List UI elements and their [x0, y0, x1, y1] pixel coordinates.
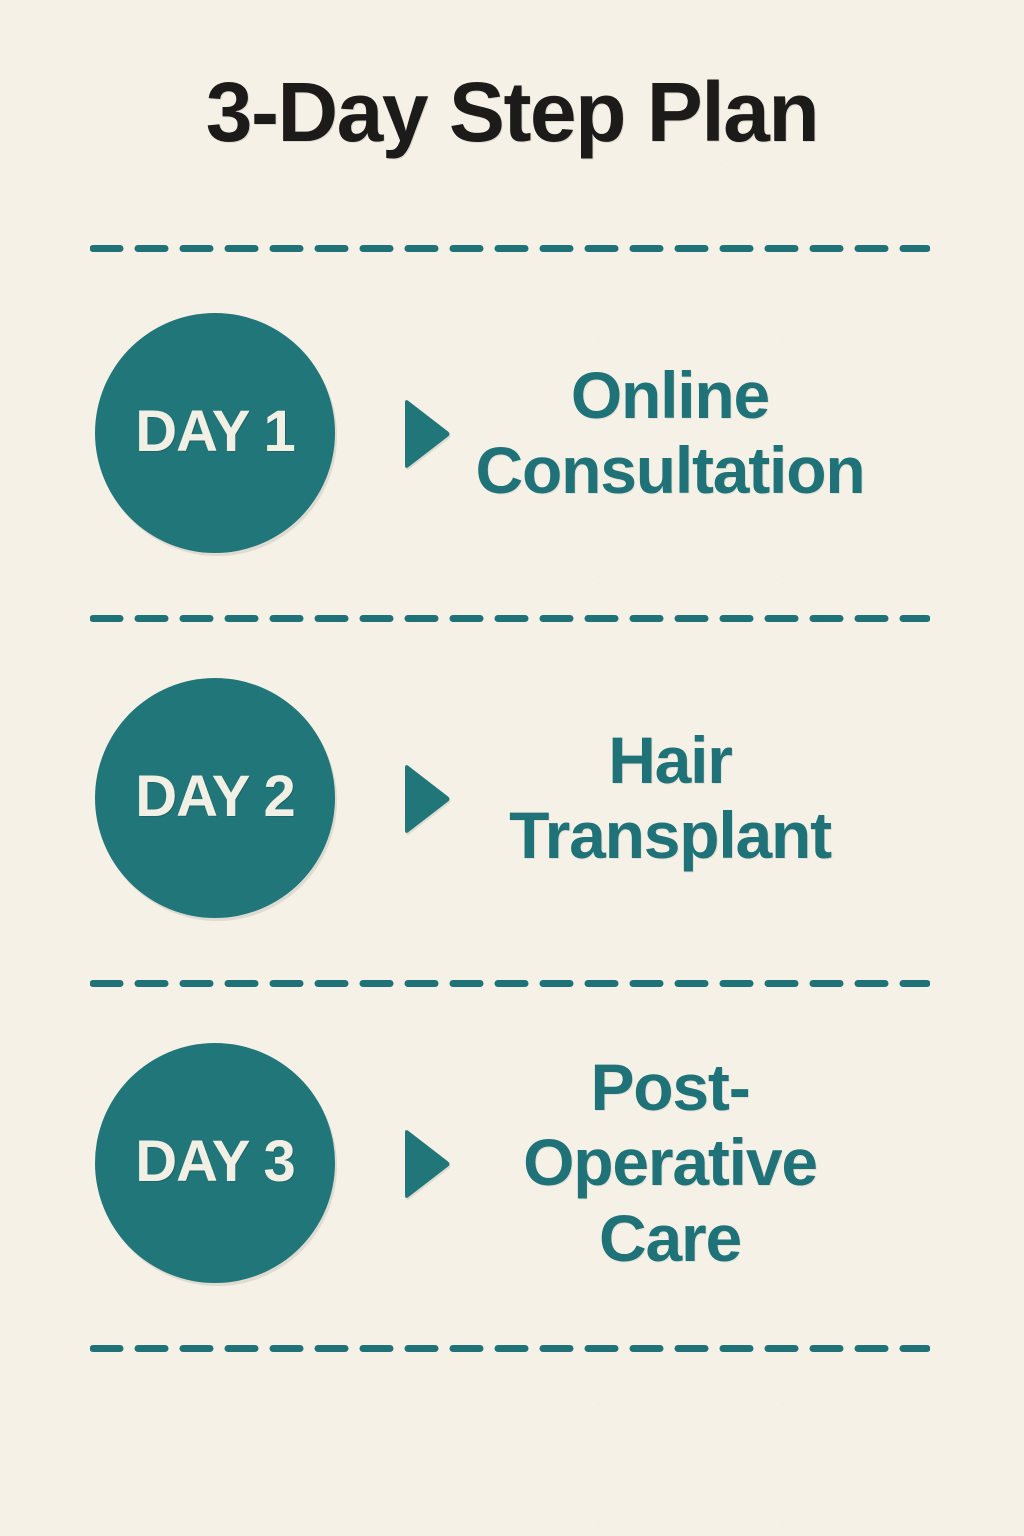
day-badge-circle-3[interactable]: DAY 3 — [95, 1043, 335, 1283]
step-label-1: Online Consultation — [476, 358, 865, 508]
page-title: 3-Day Step Plan — [0, 68, 1024, 156]
divider-after-day-2 — [90, 980, 930, 987]
day-badge-circle-1[interactable]: DAY 1 — [95, 313, 335, 553]
day-badge-label-2: DAY 2 — [135, 768, 294, 826]
step-label-line: Hair — [509, 723, 831, 798]
divider-bottom — [90, 1345, 930, 1352]
step-label-line: Care — [523, 1201, 817, 1276]
step-label-2: Hair Transplant — [509, 723, 831, 873]
step-label-3: Post- Operative Care — [523, 1050, 817, 1276]
step-row-day-3: DAY 3 Post- Operative Care — [0, 1013, 1024, 1313]
divider-after-day-1 — [90, 615, 930, 622]
step-label-container-3: Post- Operative Care — [470, 1013, 870, 1313]
step-label-line: Transplant — [509, 798, 831, 873]
triangle-right-icon — [398, 397, 452, 471]
day-badge-circle-2[interactable]: DAY 2 — [95, 678, 335, 918]
step-row-day-2: DAY 2 Hair Transplant — [0, 648, 1024, 948]
step-label-line: Consultation — [476, 433, 865, 508]
step-row-day-1: DAY 1 Online Consultation — [0, 283, 1024, 583]
step-label-line: Online — [476, 358, 865, 433]
step-label-line: Operative — [523, 1125, 817, 1200]
step-plan-poster: 3-Day Step Plan DAY 1 Online Consultatio… — [0, 0, 1024, 1536]
step-label-container-2: Hair Transplant — [470, 648, 870, 948]
triangle-right-icon — [398, 762, 452, 836]
step-label-line: Post- — [523, 1050, 817, 1125]
day-badge-label-3: DAY 3 — [135, 1133, 294, 1191]
step-label-container-1: Online Consultation — [470, 283, 870, 583]
divider-top — [90, 245, 930, 252]
triangle-right-icon — [398, 1127, 452, 1201]
day-badge-label-1: DAY 1 — [135, 403, 294, 461]
